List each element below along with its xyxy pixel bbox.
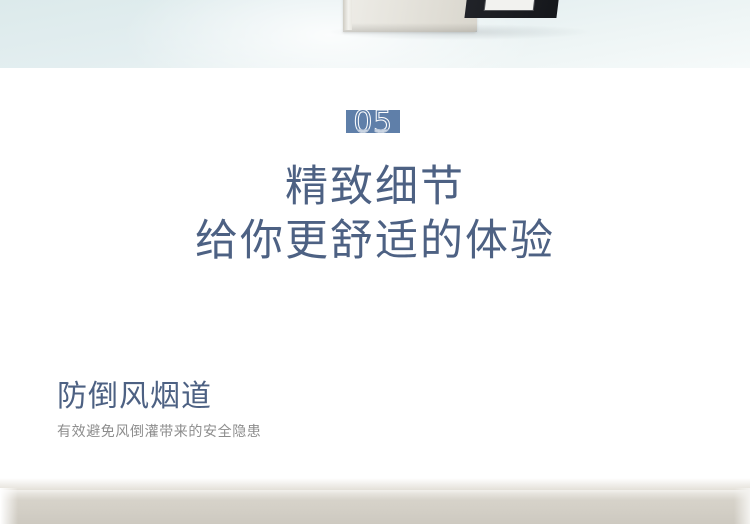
feature-title: 防倒风烟道 bbox=[57, 378, 477, 416]
bottom-edge-sheen bbox=[0, 490, 750, 500]
bottom-edge-right-cap bbox=[734, 488, 750, 524]
feature-subtitle: 有效避免风倒灌带来的安全隐患 bbox=[57, 422, 477, 442]
page-title: 精致细节 给你更舒适的体验 bbox=[0, 160, 750, 268]
headline-line-2: 给你更舒适的体验 bbox=[0, 214, 750, 268]
product-detail-page: 05 05 精致细节 给你更舒适的体验 防倒风烟道 有效避免风倒灌带来的安全隐患 bbox=[0, 0, 750, 524]
product-bottom-edge bbox=[0, 488, 750, 524]
bottom-edge-fade bbox=[0, 478, 750, 488]
feature-block: 防倒风烟道 有效避免风倒灌带来的安全隐患 bbox=[57, 378, 477, 442]
content-area: 05 05 精致细节 给你更舒适的体验 防倒风烟道 有效避免风倒灌带来的安全隐患 bbox=[0, 68, 750, 488]
section-number-badge: 05 05 bbox=[0, 110, 750, 154]
product-photo-band bbox=[0, 0, 750, 68]
appliance-body-cream bbox=[343, 0, 477, 32]
bottom-edge-left-cap bbox=[0, 488, 18, 524]
appliance-panel-inset bbox=[485, 0, 537, 10]
headline-line-1: 精致细节 bbox=[0, 160, 750, 214]
appliance-front-edge-highlight bbox=[343, 0, 352, 30]
